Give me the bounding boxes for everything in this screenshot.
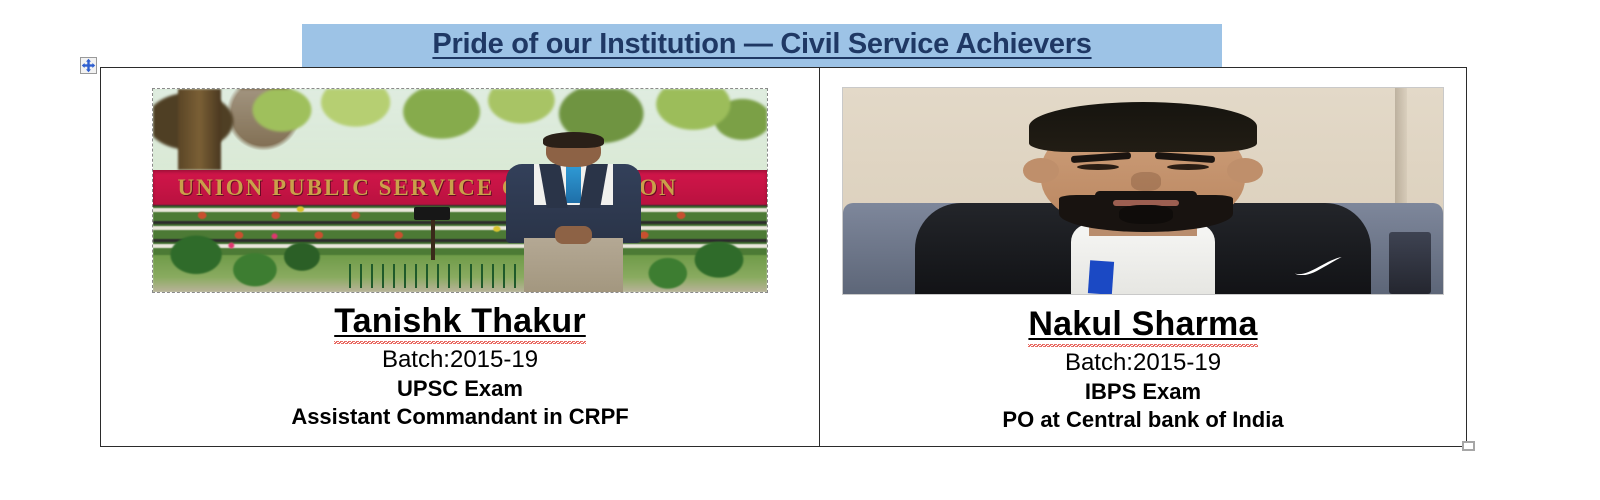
achiever-name: Tanishk Thakur	[334, 301, 586, 344]
achiever-caption-right: Nakul Sharma Batch:2015-19 IBPS Exam PO …	[820, 295, 1466, 433]
ear-left	[1023, 158, 1059, 183]
achiever-post: Assistant Commandant in CRPF	[101, 404, 819, 430]
bag-strap	[1389, 232, 1431, 294]
achiever-name-wrapper: Nakul Sharma	[820, 295, 1466, 347]
achiever-cell-right: Nakul Sharma Batch:2015-19 IBPS Exam PO …	[820, 68, 1466, 446]
nike-swoosh-icon	[1269, 257, 1365, 276]
achiever-post: PO at Central bank of India	[820, 407, 1466, 433]
achievers-table: UNION PUBLIC SERVICE COMMISSION	[100, 67, 1467, 447]
achiever-name: Nakul Sharma	[1028, 304, 1257, 347]
achiever-exam: IBPS Exam	[820, 379, 1466, 405]
tree-trunk	[178, 89, 221, 170]
garden-lamp	[411, 207, 454, 260]
table-move-handle-icon[interactable]	[80, 57, 97, 74]
achiever-batch: Batch:2015-19	[820, 349, 1466, 377]
nose	[1131, 172, 1161, 191]
table-resize-handle-icon[interactable]	[1462, 441, 1475, 451]
achiever-caption-left: Tanishk Thakur Batch:2015-19 UPSC Exam A…	[101, 292, 819, 430]
page-title: Pride of our Institution — Civil Service…	[302, 24, 1222, 61]
achiever-photo-tanishk-thakur[interactable]: UNION PUBLIC SERVICE COMMISSION	[153, 89, 767, 292]
hair	[543, 132, 604, 148]
person-in-suit	[497, 134, 651, 292]
achiever-cell-left: UNION PUBLIC SERVICE COMMISSION	[101, 68, 820, 446]
clasped-hands	[555, 226, 592, 245]
trousers	[524, 238, 622, 292]
shrub-left	[153, 199, 349, 292]
hair	[1029, 102, 1257, 151]
achiever-name-wrapper: Tanishk Thakur	[101, 292, 819, 344]
ear-right	[1227, 158, 1263, 183]
blue-lanyard	[1088, 260, 1114, 295]
necktie	[566, 165, 581, 203]
achiever-exam: UPSC Exam	[101, 376, 819, 402]
achiever-batch: Batch:2015-19	[101, 346, 819, 374]
document-title-highlight: Pride of our Institution — Civil Service…	[302, 24, 1222, 73]
achiever-photo-nakul-sharma[interactable]	[842, 87, 1444, 295]
chin-beard-patch	[1119, 205, 1173, 224]
moustache	[1095, 191, 1197, 200]
